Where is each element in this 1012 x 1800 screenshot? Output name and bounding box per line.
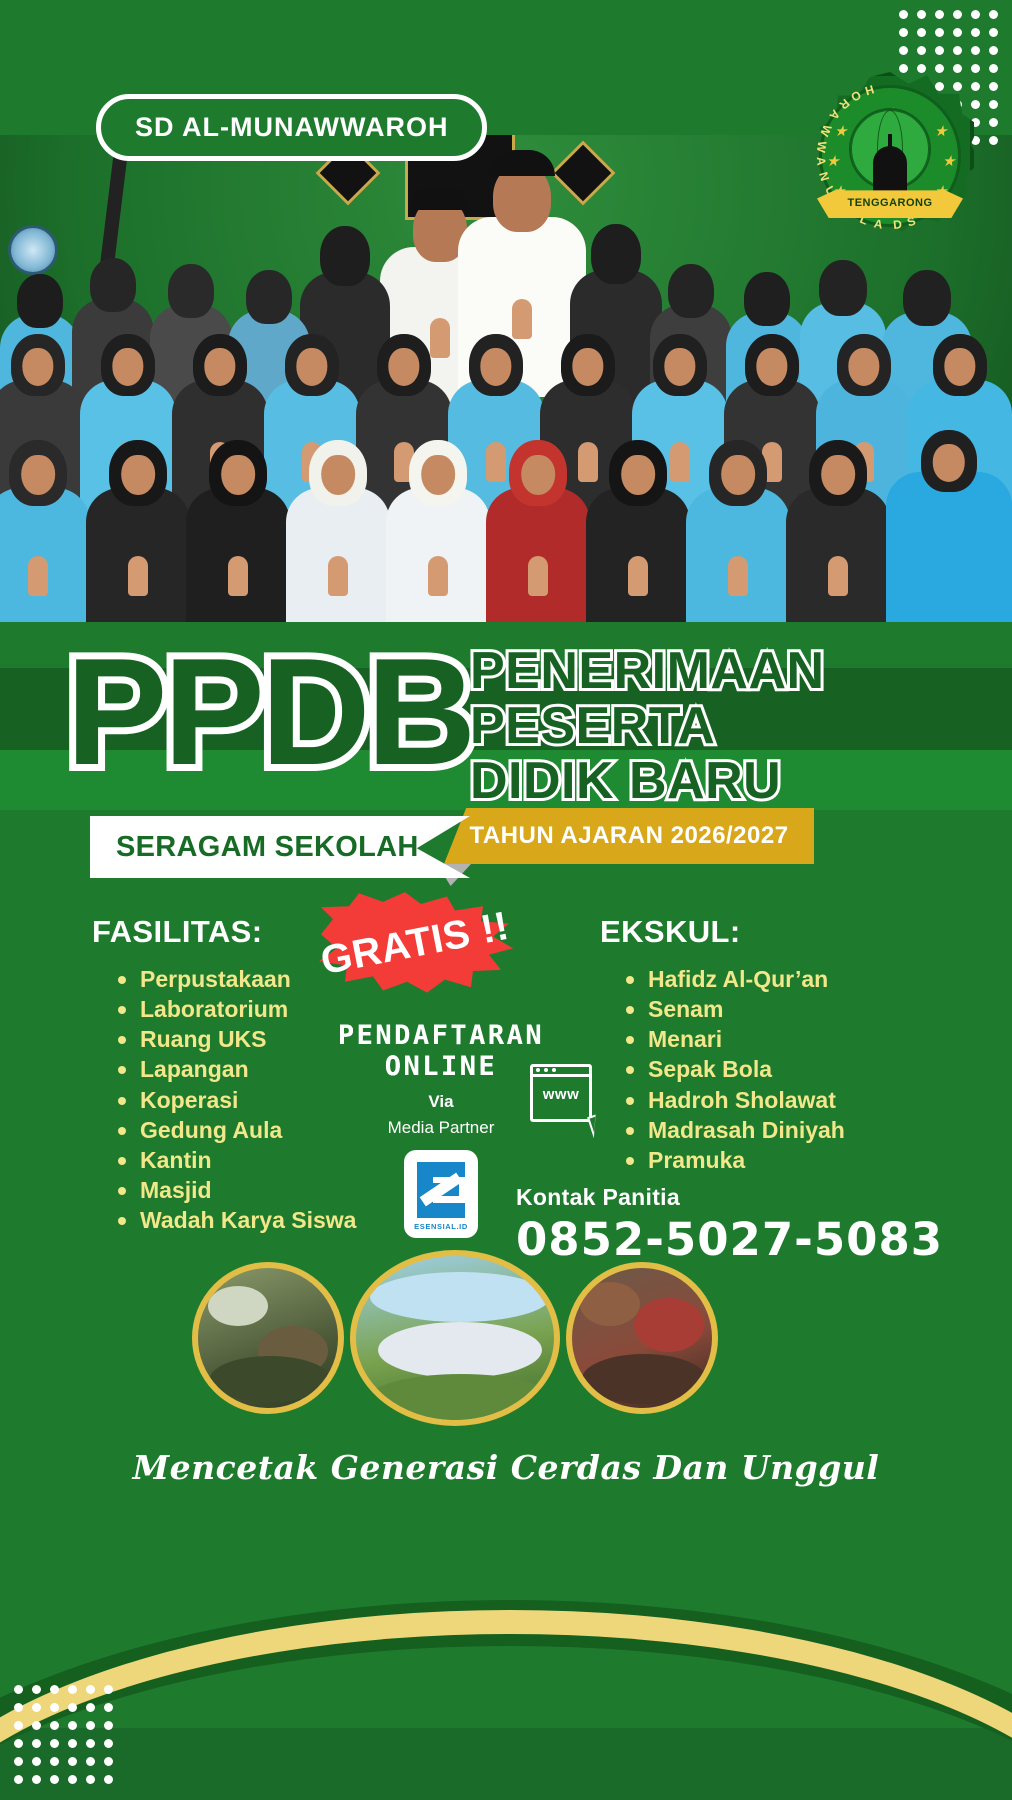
person [386,452,490,622]
year-banner-label: TAHUN AJARAN 2026/2027 [469,822,788,850]
headline-line-1: PENERIMAAN [470,644,825,699]
dot-grid-bottom-left [14,1685,113,1784]
list-item: Hadroh Sholawat [626,1085,845,1115]
logo-mosque-icon [873,146,907,192]
ppdb-poster: S D A L - M U N A W W A R O H ★ ★ ★ ★ ★ … [0,0,1012,1800]
tagline: Mencetak Generasi Cerdas Dan Unggul [0,1448,1012,1487]
esensial-logo-label: ESENSIAL.ID [404,1222,478,1231]
contact-label: Kontak Panitia [516,1184,943,1211]
main-panel: PPDB PENERIMAAN PESERTA DIDIK BARU TAHUN… [0,622,1012,1800]
contact-phone[interactable]: 0852-5027-5083 [516,1213,943,1266]
person [586,452,690,622]
list-item: Sepak Bola [626,1054,845,1084]
person [286,452,390,622]
contact-block: Kontak Panitia 0852-5027-5083 [516,1184,943,1266]
activity-photo-center [350,1250,560,1426]
extracurricular-heading: EKSKUL: [600,914,845,950]
person [786,452,890,622]
uniform-ribbon-label: SERAGAM SEKOLAH [90,831,419,864]
list-item: Pramuka [626,1145,845,1175]
school-logo: S D A L - M U N A W W A R O H ★ ★ ★ ★ ★ … [806,72,974,240]
logo-ribbon: TENGGARONG [817,188,963,218]
gratis-badge: GRATIS !! [315,890,515,998]
bottom-arc-gold [0,1610,1012,1800]
browser-window-icon: www [530,1064,592,1122]
extracurricular-list: Hafidz Al-Qur’an Senam Menari Sepak Bola… [600,964,845,1175]
ppdb-acronym: PPDB [66,650,472,775]
list-item: Menari [626,1024,845,1054]
media-partner-logo: ESENSIAL.ID [404,1150,478,1238]
person [686,452,790,622]
activity-photo-left [192,1262,344,1414]
logo-ribbon-text: TENGGARONG [817,188,963,218]
list-item: Madrasah Diniyah [626,1115,845,1145]
headline-line-3: DIDIK BARU [470,754,825,809]
year-banner: TAHUN AJARAN 2026/2027 [444,808,814,864]
browser-titlebar [530,1064,592,1077]
extracurricular-column: EKSKUL: Hafidz Al-Qur’an Senam Menari Se… [600,914,845,1175]
uniform-ribbon: SERAGAM SEKOLAH [90,816,470,878]
esensial-e-icon [417,1162,465,1218]
person [486,452,590,622]
activity-photo-right [566,1262,718,1414]
list-item: Hafidz Al-Qur’an [626,964,845,994]
person [886,442,1012,622]
school-name-pill: SD AL-MUNAWWAROH [96,94,487,161]
browser-www-label: www [530,1086,592,1103]
headline-line-2: PESERTA [470,699,825,754]
headline-block: PENERIMAAN PESERTA DIDIK BARU [470,644,825,809]
list-item: Senam [626,994,845,1024]
